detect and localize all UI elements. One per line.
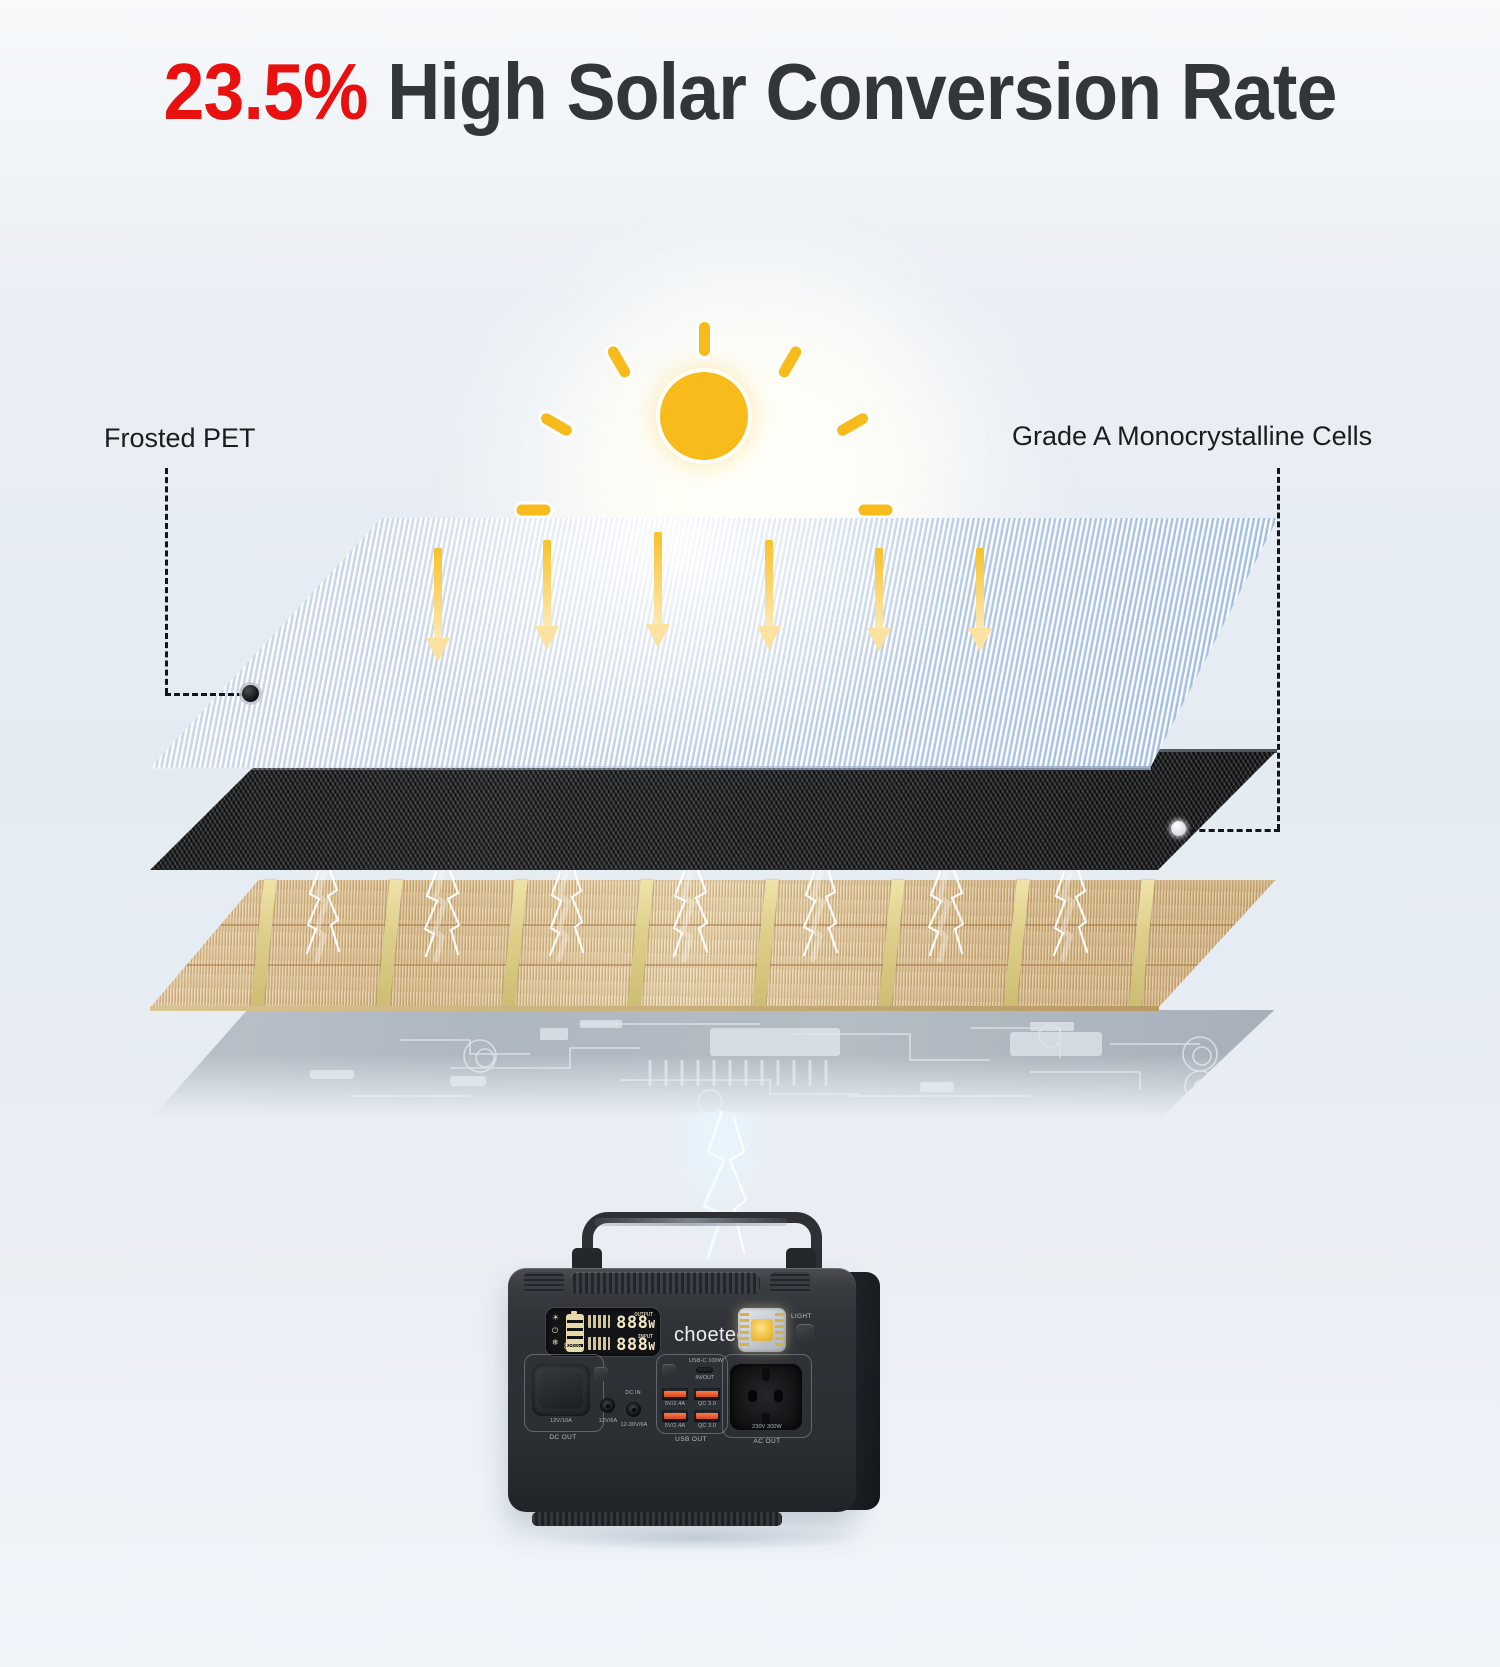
- dc-out-title: DC OUT: [528, 1434, 598, 1441]
- led-chip: [751, 1319, 773, 1341]
- led-light-module: [738, 1308, 786, 1352]
- vent-top: [570, 1272, 760, 1294]
- leader-line-right-horizontal: [1190, 829, 1280, 832]
- lightning-bolt-icon: [150, 866, 1280, 1016]
- frosted-pet-layer: [150, 518, 1280, 768]
- callout-dot-frosted-pet: [242, 685, 259, 702]
- input-unit-label: INPUT: [637, 1334, 653, 1340]
- dc-in-port-label: 12-30V/6A: [612, 1422, 656, 1428]
- dc-out-barrel-port-12v6a[interactable]: [600, 1398, 615, 1413]
- usbc-inout-label: IN/OUT: [688, 1375, 722, 1381]
- usba-3-label: QC 3.0: [690, 1401, 724, 1407]
- usb-a-port-1[interactable]: [662, 1388, 688, 1400]
- dc-out-button[interactable]: [594, 1367, 608, 1381]
- ac-outlet-schuko[interactable]: [730, 1364, 802, 1430]
- usba-2-label: 5V/2.4A: [658, 1423, 692, 1429]
- output-readout: 888W OUTPUT: [616, 1313, 655, 1333]
- light-button[interactable]: [796, 1324, 814, 1342]
- dc-port-1-label: 12V/10A: [534, 1418, 588, 1424]
- leader-line-left-vertical: [165, 468, 168, 694]
- usb-out-button[interactable]: [662, 1364, 676, 1378]
- vent-right: [770, 1272, 810, 1294]
- infographic-canvas: 23.5% High Solar Conversion Rate: [0, 0, 1500, 1667]
- ac-out-title: AC OUT: [732, 1438, 802, 1445]
- leader-line-left-horizontal: [165, 693, 243, 696]
- sunlight-arrow-icon: [761, 540, 777, 628]
- light-button-label: LIGHT: [791, 1313, 812, 1320]
- sun-icon: [604, 316, 804, 516]
- usb-a-port-4[interactable]: [694, 1410, 720, 1422]
- output-unit-label: OUTPUT: [634, 1312, 653, 1318]
- handle-highlight: [594, 1218, 788, 1226]
- ac-port-label: 230V 300W: [738, 1424, 796, 1430]
- sunlight-arrow-icon: [972, 548, 988, 630]
- usba-1-label: 5V/2.4A: [658, 1401, 692, 1407]
- sunlight-arrow-icon: [871, 548, 887, 630]
- sunlight-arrow-icon: [650, 532, 666, 626]
- sunlight-arrow-icon: [430, 548, 446, 640]
- portable-power-station: ☀ ⏻ ❄ 88% 888W OUTPUT 888W INPUT choetec…: [498, 1212, 878, 1532]
- dc-out-port-12v10a[interactable]: [532, 1364, 590, 1416]
- usb-a-port-3[interactable]: [694, 1388, 720, 1400]
- page-title: 23.5% High Solar Conversion Rate: [60, 52, 1440, 132]
- label-monocrystalline-cells: Grade A Monocrystalline Cells: [1012, 421, 1372, 452]
- callout-dot-monocrystalline: [1171, 821, 1186, 836]
- vent-left: [524, 1272, 564, 1294]
- conversion-rate-percent: 23.5%: [163, 47, 367, 136]
- pcb-circuit-layer: [150, 1010, 1280, 1120]
- usb-out-title: USB OUT: [656, 1436, 726, 1443]
- vent-bottom: [532, 1512, 782, 1526]
- battery-percent: 88%: [564, 1341, 581, 1351]
- label-frosted-pet: Frosted PET: [104, 423, 256, 454]
- headline-text: High Solar Conversion Rate: [387, 47, 1336, 136]
- sunlight-arrow-icon: [539, 540, 555, 628]
- leader-line-right-vertical: [1277, 468, 1280, 830]
- dc-in-port[interactable]: [626, 1402, 641, 1417]
- usb-c-port[interactable]: [696, 1367, 713, 1373]
- usb-a-port-2[interactable]: [662, 1410, 688, 1422]
- usba-4-label: QC 3.0: [690, 1423, 724, 1429]
- dc-in-title: DC IN: [616, 1390, 650, 1396]
- lcd-display: ☀ ⏻ ❄ 88% 888W OUTPUT 888W INPUT: [546, 1308, 660, 1356]
- input-readout: 888W INPUT: [616, 1335, 655, 1355]
- sun-core: [660, 372, 748, 460]
